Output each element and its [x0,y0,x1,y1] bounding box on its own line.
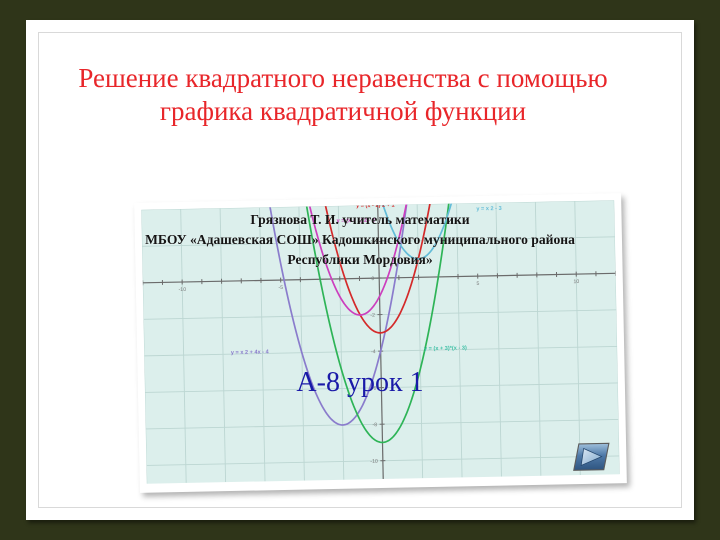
x-axis-tick-label: -10 [178,287,186,293]
slide-root: -10-551020-2-4-6-8-10y = x 2 + 4x - 4y =… [0,0,720,540]
equation-annotation: y = (x - 2) 2 + 1 [356,203,395,210]
y-axis-tick-label: -10 [370,459,378,465]
y-axis-tick-label: -2 [370,313,375,319]
author-line-1: Грязнова Т. И. учитель математики [30,210,690,230]
x-axis-tick-label: 5 [476,281,479,287]
author-line-3: Республики Мордовия» [30,250,690,270]
equation-annotation: y = x 2 + 4x - 4 [231,349,270,356]
author-line-2: МБОУ «Адашевская СОШ» Кадошкинского муни… [30,230,690,250]
lesson-label: А-8 урок 1 [160,366,560,400]
author-block: Грязнова Т. И. учитель математики МБОУ «… [30,210,690,270]
y-axis-tick-label: -4 [371,349,376,355]
play-icon-glyph [572,441,611,472]
y-axis-tick-label: -8 [372,422,377,428]
equation-annotation: y = (x + 3)*(x - 3) [424,345,467,352]
x-axis-tick-label: 10 [573,279,579,285]
play-icon[interactable] [572,441,611,472]
x-axis-tick-label: -5 [278,285,283,291]
page-title: Решение квадратного неравенства с помощь… [52,62,634,128]
y-axis-tick-label: 0 [371,276,374,282]
